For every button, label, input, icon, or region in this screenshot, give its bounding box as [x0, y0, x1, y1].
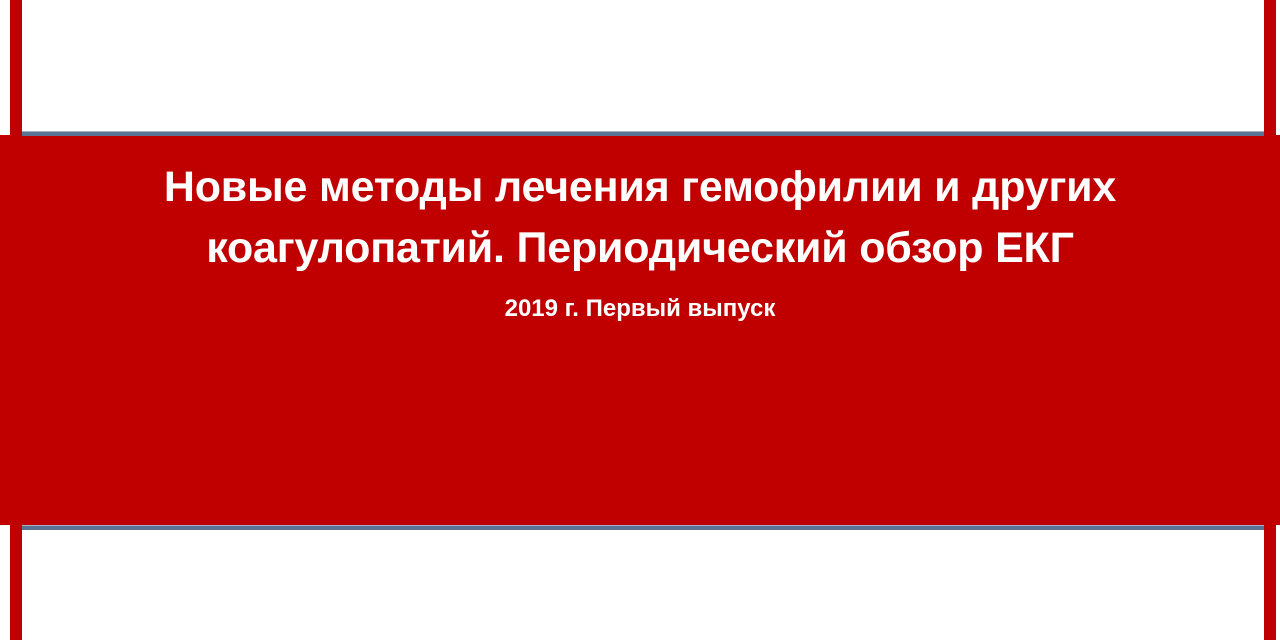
page-subtitle: 2019 г. Первый выпуск [505, 295, 776, 324]
page-title-line-2: коагулопатий. Периодический обзор ЕКГ [206, 224, 1074, 272]
slide-top-margin [0, 0, 1280, 131]
page-title-line-1: Новые методы лечения гемофилии и других [164, 163, 1116, 211]
presentation-slide: Новые методы лечения гемофилии и других … [0, 0, 1280, 640]
banner-bottom-rule [22, 525, 1264, 530]
title-block: Новые методы лечения гемофилии и других … [0, 135, 1280, 525]
page-title: Новые методы лечения гемофилии и других … [110, 157, 1170, 279]
slide-bottom-margin [0, 529, 1280, 640]
